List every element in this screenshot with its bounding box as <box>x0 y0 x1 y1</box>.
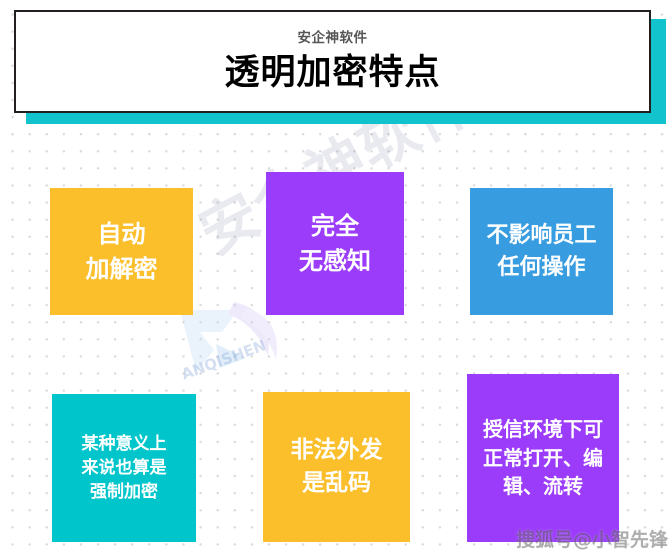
slide-canvas: 安企神软件 ANQISHEN 安企神软件 透明加密特点 自动 加解密 完全 无感… <box>0 0 672 554</box>
feature-card-label: 完全 无感知 <box>299 209 371 277</box>
header-banner: 安企神软件 透明加密特点 <box>14 10 651 113</box>
feature-card-trusted-env[interactable]: 授信环境下可 正常打开、编 辑、流转 <box>467 374 619 542</box>
page-title: 透明加密特点 <box>224 55 440 93</box>
feature-card-label: 授信环境下可 正常打开、编 辑、流转 <box>483 415 603 500</box>
feature-card-no-perception[interactable]: 完全 无感知 <box>266 172 404 315</box>
feature-card-label: 不影响员工 任何操作 <box>486 220 596 282</box>
anqishen-logo-text: ANQISHEN <box>179 336 268 383</box>
feature-card-no-impact[interactable]: 不影响员工 任何操作 <box>470 188 613 315</box>
feature-card-auto-encrypt[interactable]: 自动 加解密 <box>50 188 193 315</box>
feature-card-label: 自动 加解密 <box>86 217 158 285</box>
feature-card-garbled-outbound[interactable]: 非法外发 是乱码 <box>263 392 410 542</box>
feature-card-label: 非法外发 是乱码 <box>291 434 383 499</box>
header-subtitle: 安企神软件 <box>298 32 368 46</box>
feature-card-label: 某种意义上 来说也算是 强制加密 <box>82 432 167 504</box>
feature-card-mandatory-encrypt[interactable]: 某种意义上 来说也算是 强制加密 <box>52 394 196 542</box>
